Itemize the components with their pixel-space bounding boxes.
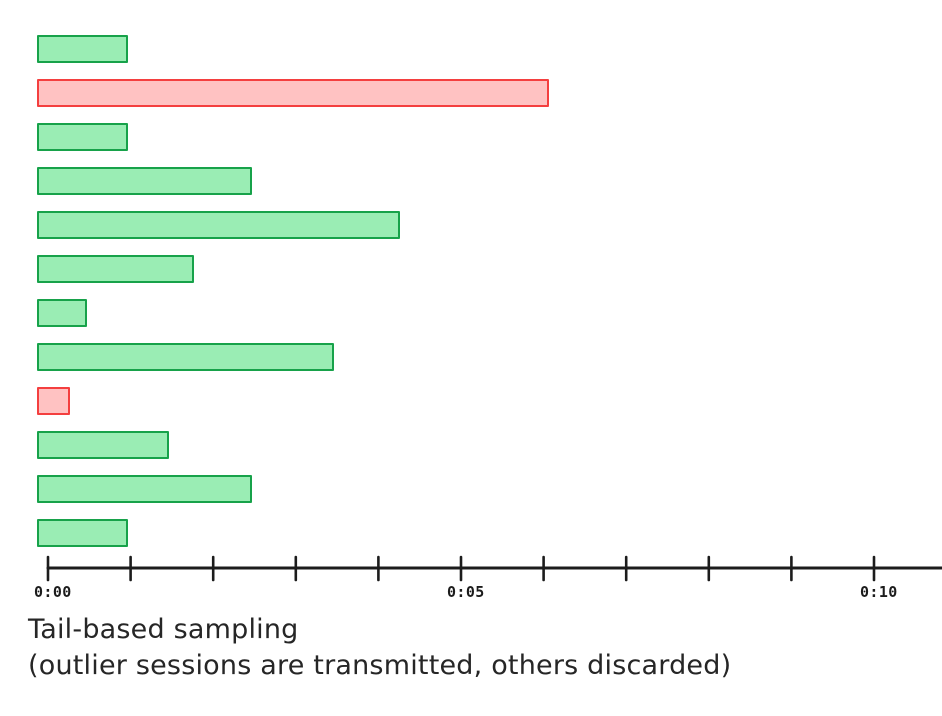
axis-tick-label: 0:05 [447, 583, 485, 601]
bar-chart-bars [0, 0, 942, 545]
bar-outlier [37, 79, 549, 107]
time-axis: 0:000:050:100:15 [0, 540, 942, 610]
bar-outlier [37, 387, 70, 415]
bar-normal [37, 475, 252, 503]
bar-normal [37, 255, 194, 283]
bar-normal [37, 35, 128, 63]
tail-based-sampling-figure: 0:000:050:100:15 Tail-based sampling (ou… [0, 0, 942, 716]
figure-caption: Tail-based sampling (outlier sessions ar… [28, 612, 928, 684]
axis-tick-label: 0:10 [860, 583, 898, 601]
bar-normal [37, 123, 128, 151]
caption-line-1: Tail-based sampling [28, 612, 928, 648]
bar-normal [37, 299, 87, 327]
bar-normal [37, 431, 169, 459]
axis-tick-label: 0:00 [34, 583, 72, 601]
bar-normal [37, 211, 400, 239]
bar-normal [37, 167, 252, 195]
bar-normal [37, 343, 334, 371]
caption-line-2: (outlier sessions are transmitted, other… [28, 648, 928, 684]
